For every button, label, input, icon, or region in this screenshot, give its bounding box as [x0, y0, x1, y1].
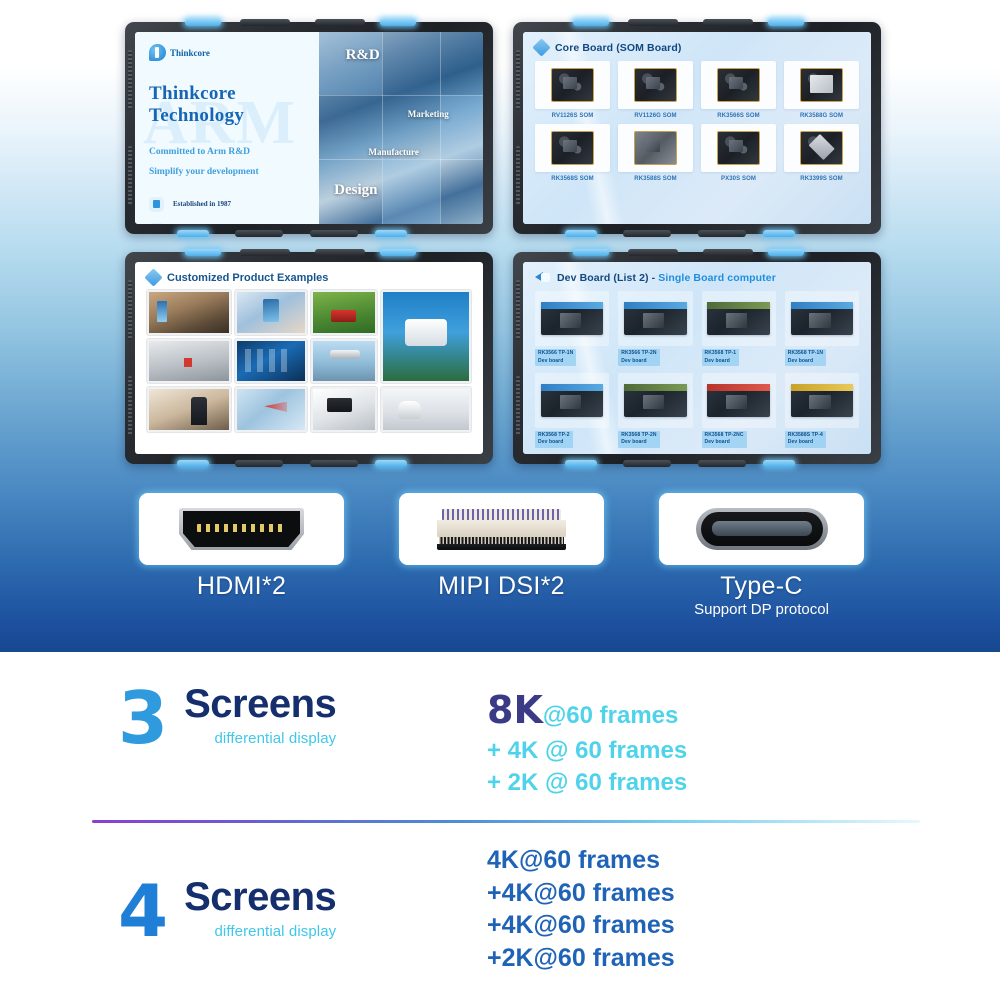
screen-company-intro: ARM Thinkcore Thinkcore Technology Commi…	[135, 32, 483, 224]
som-label: RK3399S SOM	[800, 176, 842, 182]
pillar-label-design: Design	[334, 182, 377, 199]
som-item[interactable]: PX30S SOM	[701, 124, 776, 182]
bezel-tab	[698, 460, 746, 467]
som-label: PX30S SOM	[721, 176, 756, 182]
som-item[interactable]: RK3588S SOM	[618, 124, 693, 182]
monitor-dev-board: Dev Board (List 2) - Single Board comput…	[513, 252, 881, 464]
bezel-tab	[240, 249, 290, 256]
bezel-vent	[516, 146, 520, 206]
bezel-tab	[310, 460, 358, 467]
type-c-port-note: Support DP protocol	[659, 601, 864, 618]
connector-type-c: Type-C Support DP protocol	[659, 493, 864, 618]
dev-board-header: Dev Board (List 2) - Single Board comput…	[535, 271, 859, 284]
bezel-tab	[703, 19, 753, 26]
bezel-tab-accent	[763, 460, 795, 467]
bezel-tab-accent	[375, 230, 407, 237]
mall-kiosk-photo	[147, 290, 231, 335]
som-item[interactable]: RK3399S SOM	[784, 124, 859, 182]
type-c-port-card	[659, 493, 864, 565]
core-board-title: Core Board (SOM Board)	[555, 42, 681, 54]
dev-board-title-accent: Single Board computer	[658, 272, 776, 284]
dev-board-thumbnail	[785, 291, 859, 346]
bezel-vent	[128, 50, 132, 110]
som-thumbnail	[784, 61, 859, 109]
hdmi-port-card	[139, 493, 344, 565]
building-icon	[149, 197, 164, 212]
tagline-2: Simplify your development	[149, 163, 305, 183]
dev-board-item[interactable]: RK3566 TP-1NDev board	[535, 291, 609, 367]
mipi-dsi-port-card	[399, 493, 604, 565]
spec-resolutions-3: 8K@60 frames + 4K @ 60 frames + 2K @ 60 …	[487, 686, 687, 798]
spec-screens-4: Screens differential display	[184, 877, 336, 940]
core-board-header: Core Board (SOM Board)	[535, 41, 859, 54]
bezel-tab	[235, 460, 283, 467]
arrow-left-icon	[535, 271, 550, 284]
spec-row-4-screens: 4 Screens differential display	[118, 877, 336, 945]
section-divider	[92, 820, 920, 823]
thinkcore-logo: Thinkcore	[149, 44, 305, 61]
resolution-line: 8K@60 frames	[487, 686, 687, 735]
screen-core-board: Core Board (SOM Board) RV1126S SOM RV112…	[523, 32, 871, 224]
meeting-room-photo	[147, 387, 231, 432]
fact-item: Located in Shenzhen, China	[149, 223, 305, 224]
dev-board-item[interactable]: RK3566 TP-2NDev board	[618, 291, 692, 367]
bezel-tab	[698, 230, 746, 237]
bezel-tab	[628, 19, 678, 26]
company-title: Thinkcore Technology	[149, 83, 305, 127]
som-thumbnail	[701, 61, 776, 109]
spec-screens-sub: differential display	[184, 923, 336, 940]
bezel-tab-accent	[768, 19, 804, 26]
pos-terminal-photo	[311, 387, 377, 432]
product-photo-grid	[147, 290, 471, 432]
bezel-tab-accent	[177, 230, 209, 237]
bezel-tab-accent	[763, 230, 795, 237]
type-c-port-label: Type-C	[659, 572, 864, 601]
handheld-device-photo	[235, 290, 307, 335]
bezel-tab-accent	[565, 460, 597, 467]
som-item[interactable]: RV1126S SOM	[535, 61, 610, 119]
connector-mipi-dsi: MIPI DSI*2	[399, 493, 604, 601]
som-thumbnail	[618, 124, 693, 172]
bezel-vent	[128, 376, 132, 436]
som-item[interactable]: RK3566S SOM	[701, 61, 776, 119]
hero-section: ARM Thinkcore Thinkcore Technology Commi…	[0, 0, 1000, 652]
bezel-tab	[315, 19, 365, 26]
bezel-tab	[240, 19, 290, 26]
som-thumbnail	[618, 61, 693, 109]
resolution-8k-suffix: @60 frames	[543, 702, 678, 729]
thinkcore-logo-icon	[149, 44, 166, 61]
dev-board-label: RK3568 TP-2NDev board	[618, 431, 659, 448]
page-root: ARM Thinkcore Thinkcore Technology Commi…	[0, 0, 1000, 1000]
spec-row-3-screens: 3 Screens differential display	[118, 684, 336, 752]
diamond-icon	[532, 38, 550, 56]
bezel-vent	[516, 376, 520, 436]
dev-board-thumbnail	[785, 373, 859, 428]
customized-header: Customized Product Examples	[147, 271, 471, 284]
bezel-vent	[128, 146, 132, 206]
bezel-tab-accent	[185, 19, 221, 26]
location-pin-icon	[149, 223, 164, 224]
spec-screens-word: Screens	[184, 684, 336, 724]
dev-board-label: RK3568 TP-2Dev board	[535, 431, 573, 448]
som-label: RK3588S SOM	[634, 176, 676, 182]
bezel-tab-accent	[380, 19, 416, 26]
dev-board-thumbnail	[618, 291, 692, 346]
screen-dev-board: Dev Board (List 2) - Single Board comput…	[523, 262, 871, 454]
security-camera-photo	[311, 339, 377, 384]
dev-board-grid: RK3566 TP-1NDev board RK3566 TP-2NDev bo…	[535, 291, 859, 448]
dev-board-label: RK3566 TP-1NDev board	[535, 349, 576, 366]
mipi-dsi-port-icon	[434, 507, 569, 551]
bezel-tab	[235, 230, 283, 237]
dev-board-label: RK3568 TP-1Dev board	[702, 349, 740, 366]
bezel-tab-accent	[573, 19, 609, 26]
som-label: RV1126S SOM	[552, 113, 594, 119]
som-thumbnail	[535, 124, 610, 172]
bezel-vent	[128, 280, 132, 340]
connector-row: HDMI*2 MIPI DSI*2 Type-C Su	[0, 488, 1000, 648]
drone-photo	[381, 290, 471, 383]
pillar-label-rd: R&D	[346, 47, 380, 64]
bezel-tab	[628, 249, 678, 256]
dev-board-label: RK3568 TP-1NDev board	[785, 349, 826, 366]
bezel-tab-accent	[375, 460, 407, 467]
dev-board-title-main: Dev Board (List 2) -	[557, 272, 658, 284]
turnstile-gate-photo	[147, 339, 231, 384]
dev-board-thumbnail	[535, 291, 609, 346]
spec-count-3: 3	[118, 684, 168, 752]
resolution-line: +4K@60 frames	[487, 909, 675, 942]
som-thumbnail	[784, 124, 859, 172]
customized-title: Customized Product Examples	[167, 272, 328, 284]
pillar-label-marketing: Marketing	[408, 109, 449, 119]
dev-board-title: Dev Board (List 2) - Single Board comput…	[557, 272, 776, 284]
company-taglines: Committed to Arm R&D Simplify your devel…	[149, 143, 305, 183]
dev-board-thumbnail	[702, 373, 776, 428]
spec-resolutions-4: 4K@60 frames +4K@60 frames +4K@60 frames…	[487, 844, 675, 974]
resolution-line: +2K@60 frames	[487, 942, 675, 975]
monitor-core-board: Core Board (SOM Board) RV1126S SOM RV112…	[513, 22, 881, 234]
resolution-line: 4K@60 frames	[487, 844, 675, 877]
face-recognition-photo	[235, 387, 307, 432]
som-item[interactable]: RK3568S SOM	[535, 124, 610, 182]
som-label: RK3568S SOM	[551, 176, 593, 182]
som-thumbnail	[701, 124, 776, 172]
bezel-tab-accent	[380, 249, 416, 256]
mipi-dsi-port-label: MIPI DSI*2	[399, 572, 604, 601]
bezel-vent	[516, 50, 520, 110]
dev-board-label: RK3568 TP-2NCDev board	[702, 431, 747, 448]
som-label: RK3588G SOM	[800, 113, 843, 119]
spec-screens-sub: differential display	[184, 730, 336, 747]
collage-tile	[382, 159, 441, 224]
bezel-tab	[315, 249, 365, 256]
monitor-company-intro: ARM Thinkcore Thinkcore Technology Commi…	[125, 22, 493, 234]
company-facts: Established in 1987 Located in Shenzhen,…	[149, 197, 305, 224]
spec-count-4: 4	[118, 877, 168, 945]
dev-board-item[interactable]: RK3588S TP-4Dev board	[785, 373, 859, 449]
dev-board-thumbnail	[702, 291, 776, 346]
thinkcore-logo-text: Thinkcore	[170, 48, 210, 58]
collage-tile	[440, 95, 483, 158]
bezel-tab-accent	[565, 230, 597, 237]
dev-board-item[interactable]: RK3568 TP-2NCDev board	[702, 373, 776, 449]
bezel-tab	[623, 230, 671, 237]
dev-board-item[interactable]: RK3568 TP-2NDev board	[618, 373, 692, 449]
spec-section: 3 Screens differential display 8K@60 fra…	[0, 652, 1000, 1000]
dev-board-thumbnail	[535, 373, 609, 428]
bezel-tab	[623, 460, 671, 467]
fact-item: Established in 1987	[149, 197, 305, 212]
pillar-label-manufacture: Manufacture	[369, 147, 419, 157]
bezel-tab-accent	[185, 249, 221, 256]
diamond-icon	[144, 268, 162, 286]
screen-customized-products: Customized Product Examples	[135, 262, 483, 454]
lawn-mower-photo	[311, 290, 377, 335]
dev-board-item[interactable]: RK3568 TP-1NDev board	[785, 291, 859, 367]
core-board-grid: RV1126S SOM RV1126G SOM RK3566S SOM	[535, 61, 859, 182]
resolution-line: + 4K @ 60 frames	[487, 735, 687, 766]
video-wall-photo	[235, 339, 307, 384]
bezel-tab-accent	[768, 249, 804, 256]
dev-board-item[interactable]: RK3568 TP-1Dev board	[702, 291, 776, 367]
bezel-tab	[310, 230, 358, 237]
resolution-line: +4K@60 frames	[487, 877, 675, 910]
bezel-vent	[516, 280, 520, 340]
type-c-port-icon	[696, 508, 828, 550]
som-item[interactable]: RK3588G SOM	[784, 61, 859, 119]
som-item[interactable]: RV1126G SOM	[618, 61, 693, 119]
bezel-tab-accent	[177, 460, 209, 467]
connector-hdmi: HDMI*2	[139, 493, 344, 601]
bezel-tab-accent	[573, 249, 609, 256]
dev-board-thumbnail	[618, 373, 692, 428]
resolution-line: + 2K @ 60 frames	[487, 767, 687, 798]
som-label: RK3566S SOM	[717, 113, 759, 119]
monitor-customized-products: Customized Product Examples	[125, 252, 493, 464]
bezel-tab	[703, 249, 753, 256]
som-label: RV1126G SOM	[634, 113, 676, 119]
spec-screens-word: Screens	[184, 877, 336, 917]
dev-board-label: RK3566 TP-2NDev board	[618, 349, 659, 366]
resolution-8k: 8K	[487, 688, 543, 732]
fact-text: Established in 1987	[173, 200, 231, 208]
som-thumbnail	[535, 61, 610, 109]
service-robot-photo	[381, 387, 471, 432]
company-intro-collage: R&D Marketing Manufacture Design	[319, 32, 483, 224]
dev-board-item[interactable]: RK3568 TP-2Dev board	[535, 373, 609, 449]
hdmi-port-icon	[179, 508, 304, 550]
tagline-1: Committed to Arm R&D	[149, 143, 305, 163]
spec-screens-3: Screens differential display	[184, 684, 336, 747]
dev-board-label: RK3588S TP-4Dev board	[785, 431, 826, 448]
hdmi-port-label: HDMI*2	[139, 572, 344, 601]
company-intro-left: ARM Thinkcore Thinkcore Technology Commi…	[135, 32, 319, 224]
